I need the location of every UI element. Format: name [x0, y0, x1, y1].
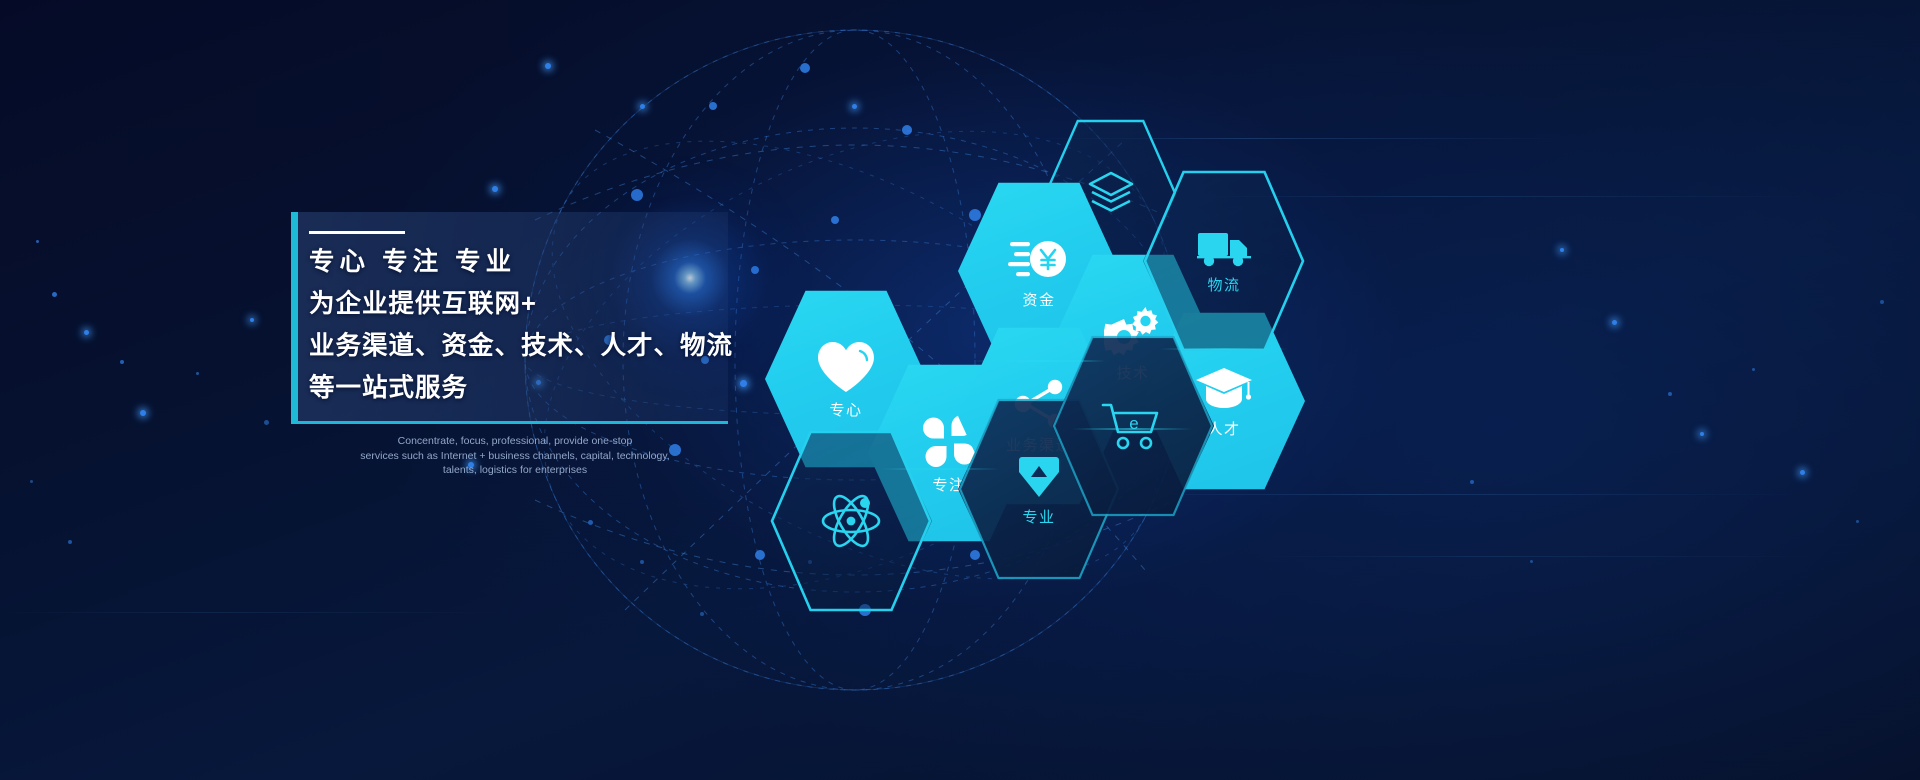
- subtitle-line-2: services such as Internet + business cha…: [290, 449, 740, 464]
- hex-zhuanye-label: 专业: [1022, 510, 1055, 525]
- headline-line-3: 业务渠道、资金、技术、人才、物流: [309, 325, 739, 367]
- hex-separator: [880, 468, 1000, 470]
- headline-line-1: 专心 专注 专业: [309, 241, 739, 283]
- headline-line-2: 为企业提供互联网+: [309, 283, 739, 325]
- svg-text:e: e: [1129, 414, 1138, 433]
- yen-coin-icon: [1008, 234, 1070, 284]
- truck-icon: [1196, 229, 1252, 269]
- headline-line-4: 等一站式服务: [309, 367, 739, 409]
- subtitle-line-1: Concentrate, focus, professional, provid…: [290, 434, 740, 449]
- hex-separator: [1160, 348, 1288, 350]
- hex-zijin-label: 资金: [1022, 293, 1055, 308]
- hex-separator: [975, 360, 1105, 362]
- shopping-cart-e-icon: e: [1101, 401, 1165, 451]
- banner-stage: 专心 专注 专业 为企业提供互联网+ 业务渠道、资金、技术、人才、物流 等一站式…: [0, 0, 1920, 780]
- panel-accent-bar: [291, 212, 298, 424]
- subtitle: Concentrate, focus, professional, provid…: [290, 434, 740, 478]
- hex-zhuanxin-label: 专心: [829, 403, 862, 418]
- atom-icon: [820, 492, 882, 550]
- page-title: 专心 专注 专业 为企业提供互联网+ 业务渠道、资金、技术、人才、物流 等一站式…: [309, 241, 739, 409]
- hex-separator: [1072, 428, 1192, 430]
- layers-icon: [1086, 170, 1136, 216]
- subtitle-line-3: talents, logistics for enterprises: [290, 463, 740, 478]
- heart-icon: [816, 340, 876, 394]
- hex-wuliu-label: 物流: [1207, 278, 1240, 293]
- panel-rule: [309, 231, 405, 234]
- diamond-icon: [1015, 453, 1063, 501]
